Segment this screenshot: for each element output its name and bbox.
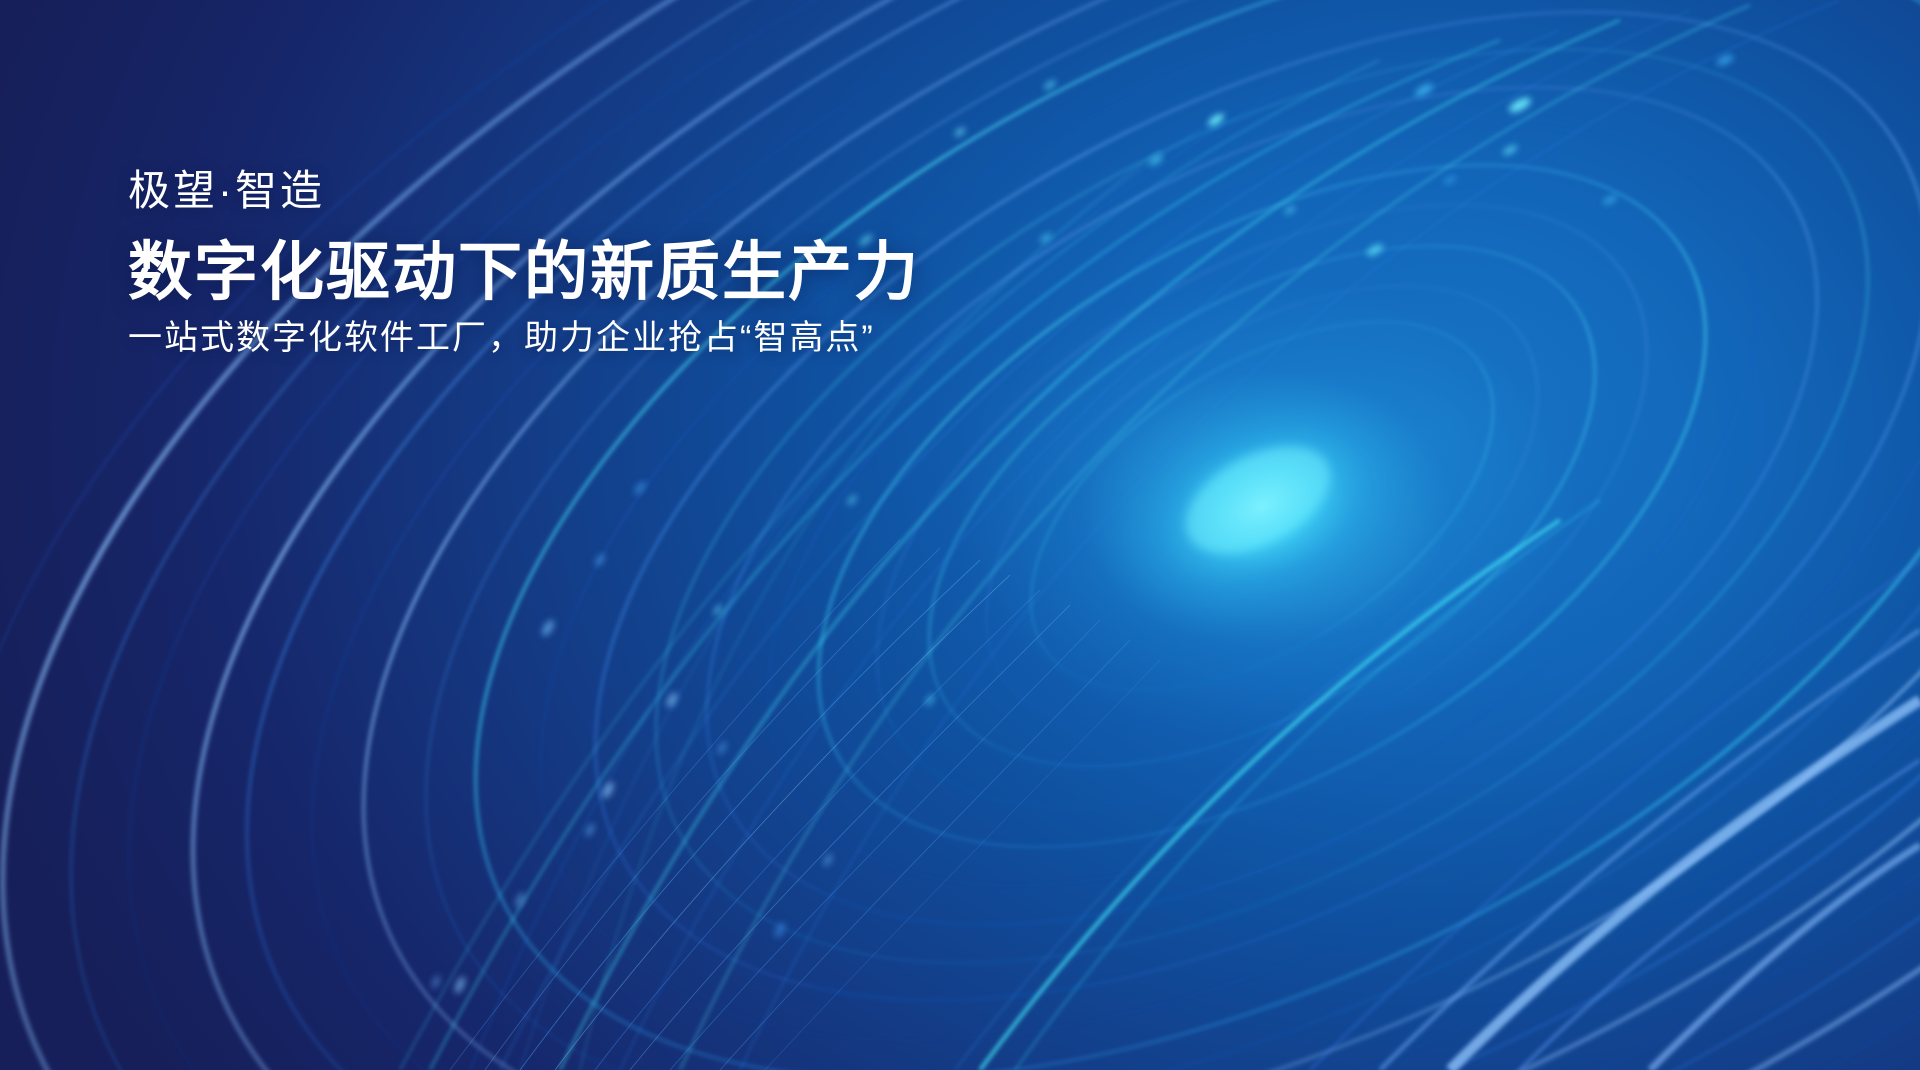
hero-banner: 极望·智造 数字化驱动下的新质生产力 一站式数字化软件工厂，助力企业抢占“智高点…: [0, 0, 1920, 1070]
banner-headline: 数字化驱动下的新质生产力: [128, 232, 920, 312]
banner-tagline: 一站式数字化软件工厂，助力企业抢占“智高点”: [128, 316, 875, 360]
spiral-light-graphic: [0, 0, 1920, 1070]
banner-eyebrow: 极望·智造: [128, 166, 325, 216]
